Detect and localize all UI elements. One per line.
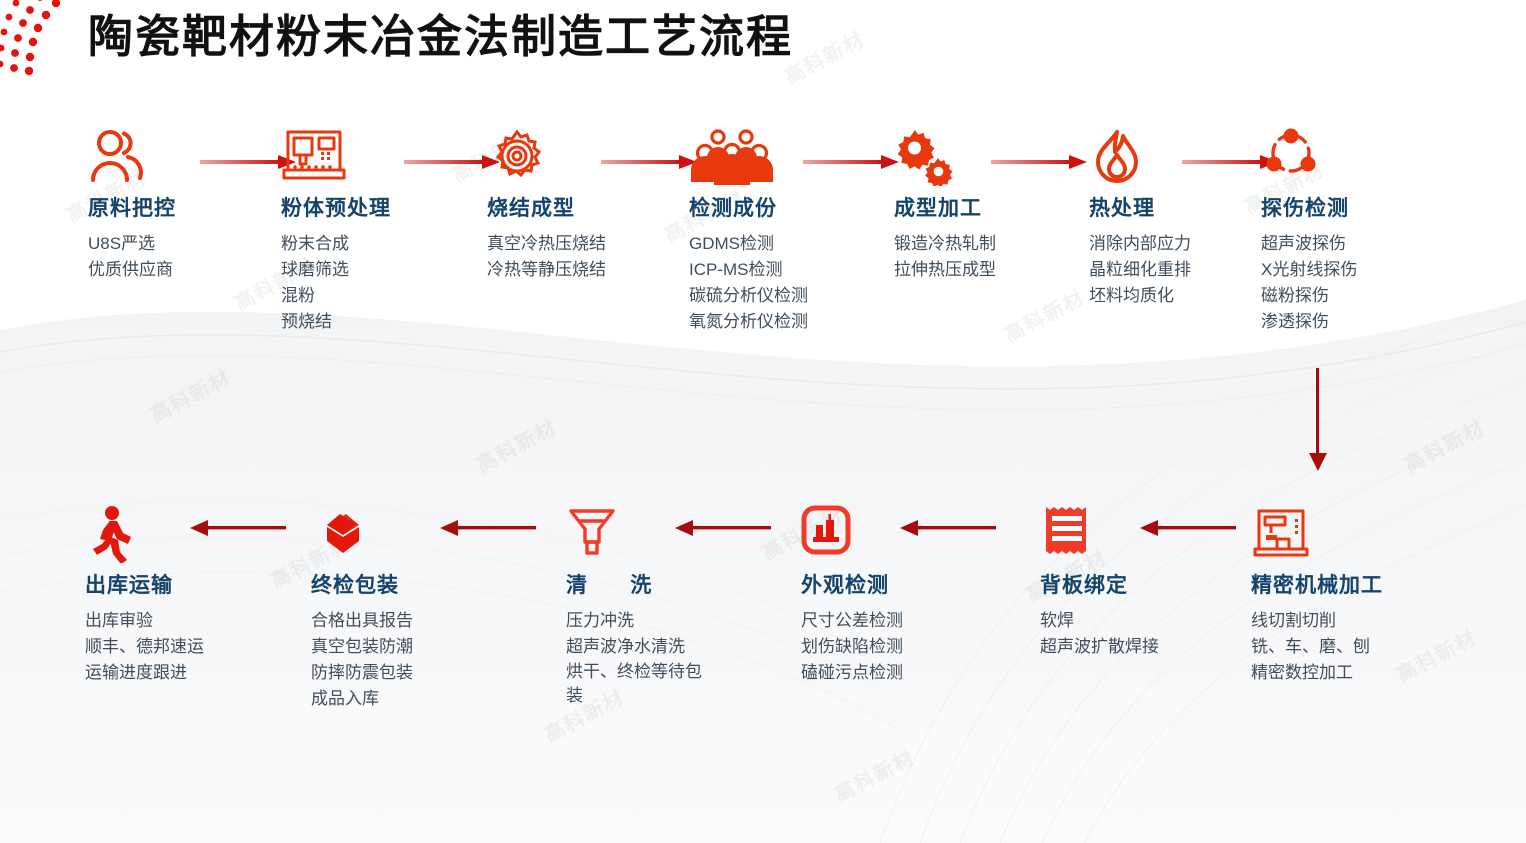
step-item: 消除内部应力 — [1089, 231, 1191, 257]
funnel-icon — [566, 505, 618, 563]
arrow-right-5 — [991, 152, 1087, 172]
step-item: 晶粒细化重排 — [1089, 257, 1191, 283]
walking-person-icon — [85, 505, 139, 563]
arrow-left-2 — [900, 518, 996, 538]
step-items: 合格出具报告 真空包装防潮 防摔防震包装 成品入库 — [311, 608, 413, 712]
step-item: 划伤缺陷检测 — [801, 634, 903, 660]
step-item: 磁粉探伤 — [1261, 283, 1357, 309]
step-title: 出库运输 — [85, 569, 204, 599]
gear-sintering-icon — [487, 128, 547, 186]
step-title: 检测成份 — [689, 192, 808, 222]
step-items: 出库审验 顺丰、德邦速运 运输进度跟进 — [85, 608, 204, 686]
arrow-right-2 — [404, 152, 500, 172]
step-card-final-inspection-packaging[interactable]: 终检包装 合格出具报告 真空包装防潮 防摔防震包装 成品入库 — [311, 505, 413, 712]
background-swoosh — [0, 0, 1526, 843]
step-item: 压力冲洗 — [566, 608, 714, 634]
step-card-cleaning[interactable]: 清 洗 压力冲洗 超声波净水清洗 烘干、终检等待包装 — [566, 505, 714, 708]
gears-icon — [894, 128, 956, 186]
step-item: 成品入库 — [311, 686, 413, 712]
step-title: 精密机械加工 — [1251, 569, 1383, 599]
step-item: 真空冷热压烧结 — [487, 231, 606, 257]
people-group-icon — [689, 128, 775, 186]
step-item: 合格出具报告 — [311, 608, 413, 634]
arrow-down-connector — [1303, 368, 1333, 473]
step-item: 混粉 — [281, 283, 391, 309]
step-title: 清 洗 — [566, 569, 714, 599]
step-items: 尺寸公差检测 划伤缺陷检测 磕碰污点检测 — [801, 608, 903, 686]
step-item: 出库审验 — [85, 608, 204, 634]
open-box-icon — [311, 505, 375, 563]
step-item: 线切割切削 — [1251, 608, 1383, 634]
inspection-badge-icon — [801, 505, 851, 563]
step-item: 运输进度跟进 — [85, 660, 204, 686]
arrow-left-5 — [190, 518, 286, 538]
watermark: 高科新材 — [828, 741, 919, 808]
flame-icon — [1089, 128, 1145, 186]
step-item: U8S严选 — [88, 231, 176, 257]
step-card-precision-machining[interactable]: 精密机械加工 线切割切削 铣、车、磨、刨 精密数控加工 — [1251, 505, 1383, 686]
arrow-right-4 — [803, 152, 899, 172]
step-items: 超声波探伤 X光射线探伤 磁粉探伤 渗透探伤 — [1261, 231, 1357, 335]
step-title: 外观检测 — [801, 569, 903, 599]
step-items: 软焊 超声波扩散焊接 — [1040, 608, 1159, 660]
step-item: 碳硫分析仪检测 — [689, 283, 808, 309]
step-item: 烘干、终检等待包装 — [566, 660, 714, 708]
step-item: 锻造冷热轧制 — [894, 231, 996, 257]
step-item: 超声波探伤 — [1261, 231, 1357, 257]
step-item: 坯料均质化 — [1089, 283, 1191, 309]
step-item: 超声波净水清洗 — [566, 634, 714, 660]
step-items: U8S严选 优质供应商 — [88, 231, 176, 283]
step-title: 粉体预处理 — [281, 192, 391, 222]
step-title: 原料把控 — [88, 192, 176, 222]
step-title: 探伤检测 — [1261, 192, 1357, 222]
step-item: 优质供应商 — [88, 257, 176, 283]
watermark: 高科新材 — [998, 281, 1089, 348]
step-items: 线切割切削 铣、车、磨、刨 精密数控加工 — [1251, 608, 1383, 686]
powder-machine-icon — [281, 128, 347, 186]
step-item: 球磨筛选 — [281, 257, 391, 283]
step-item: 氧氮分析仪检测 — [689, 309, 808, 335]
step-item: 拉伸热压成型 — [894, 257, 996, 283]
step-card-outbound-shipping[interactable]: 出库运输 出库审验 顺丰、德邦速运 运输进度跟进 — [85, 505, 204, 686]
step-title: 成型加工 — [894, 192, 996, 222]
step-items: 压力冲洗 超声波净水清洗 烘干、终检等待包装 — [566, 608, 714, 708]
step-item: 尺寸公差检测 — [801, 608, 903, 634]
watermark: 高科新材 — [144, 361, 235, 428]
step-title: 背板绑定 — [1040, 569, 1159, 599]
arrow-left-4 — [440, 518, 536, 538]
step-items: GDMS检测 ICP-MS检测 碳硫分析仪检测 氧氮分析仪检测 — [689, 231, 808, 335]
step-item: 防摔防震包装 — [311, 660, 413, 686]
step-items: 真空冷热压烧结 冷热等静压烧结 — [487, 231, 606, 283]
step-item: 渗透探伤 — [1261, 309, 1357, 335]
step-item: 软焊 — [1040, 608, 1159, 634]
step-card-appearance-inspection[interactable]: 外观检测 尺寸公差检测 划伤缺陷检测 磕碰污点检测 — [801, 505, 903, 686]
watermark: 高科新材 — [1398, 411, 1489, 478]
step-items: 消除内部应力 晶粒细化重排 坯料均质化 — [1089, 231, 1191, 309]
watermark: 高科新材 — [470, 411, 561, 478]
step-card-raw-material-control[interactable]: 原料把控 U8S严选 优质供应商 — [88, 128, 176, 283]
step-item: 磕碰污点检测 — [801, 660, 903, 686]
step-title: 烧结成型 — [487, 192, 606, 222]
step-item: 铣、车、磨、刨 — [1251, 634, 1383, 660]
step-title: 热处理 — [1089, 192, 1191, 222]
step-item: 精密数控加工 — [1251, 660, 1383, 686]
arrow-right-3 — [601, 152, 697, 172]
step-item: GDMS检测 — [689, 231, 808, 257]
step-item: ICP-MS检测 — [689, 257, 808, 283]
step-title: 终检包装 — [311, 569, 413, 599]
step-card-forming-processing[interactable]: 成型加工 锻造冷热轧制 拉伸热压成型 — [894, 128, 996, 283]
page-title: 陶瓷靶材粉末冶金法制造工艺流程 — [88, 6, 793, 68]
two-people-icon — [88, 128, 148, 186]
step-item: 粉末合成 — [281, 231, 391, 257]
three-dots-cycle-icon — [1261, 128, 1321, 186]
step-item: 冷热等静压烧结 — [487, 257, 606, 283]
step-item: 真空包装防潮 — [311, 634, 413, 660]
step-item: 顺丰、德邦速运 — [85, 634, 204, 660]
step-items: 锻造冷热轧制 拉伸热压成型 — [894, 231, 996, 283]
step-item: X光射线探伤 — [1261, 257, 1357, 283]
step-item: 超声波扩散焊接 — [1040, 634, 1159, 660]
step-items: 粉末合成 球磨筛选 混粉 预烧结 — [281, 231, 391, 335]
step-card-backing-plate-bonding[interactable]: 背板绑定 软焊 超声波扩散焊接 — [1040, 505, 1159, 660]
cnc-machine-icon — [1251, 505, 1311, 563]
step-card-composition-testing[interactable]: 检测成份 GDMS检测 ICP-MS检测 碳硫分析仪检测 氧氮分析仪检测 — [689, 128, 808, 335]
step-card-sintering-forming[interactable]: 烧结成型 真空冷热压烧结 冷热等静压烧结 — [487, 128, 606, 283]
watermark: 高科新材 — [1390, 621, 1481, 688]
backing-plate-icon — [1040, 505, 1094, 563]
step-card-powder-pretreatment[interactable]: 粉体预处理 粉末合成 球磨筛选 混粉 预烧结 — [281, 128, 391, 335]
step-card-heat-treatment[interactable]: 热处理 消除内部应力 晶粒细化重排 坯料均质化 — [1089, 128, 1191, 309]
step-item: 预烧结 — [281, 309, 391, 335]
step-card-flaw-detection[interactable]: 探伤检测 超声波探伤 X光射线探伤 磁粉探伤 渗透探伤 — [1261, 128, 1357, 335]
